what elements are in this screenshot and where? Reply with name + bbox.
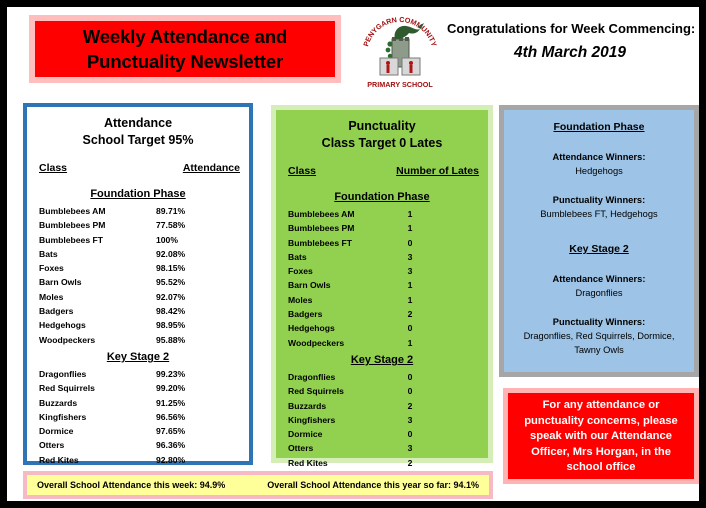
row-class-label: Moles xyxy=(288,293,398,307)
row-class-label: Hedgehogs xyxy=(288,321,398,335)
table-row: Moles92.07% xyxy=(27,290,249,304)
row-class-label: Woodpeckers xyxy=(39,333,156,347)
row-value: 98.95% xyxy=(156,318,185,332)
table-row: Bumblebees AM1 xyxy=(276,207,488,221)
table-row: Bats3 xyxy=(276,250,488,264)
table-row: Dormice97.65% xyxy=(27,424,249,438)
row-value: 2 xyxy=(398,399,422,413)
punctuality-group-ks2-title: Key Stage 2 xyxy=(276,353,488,368)
row-value: 3 xyxy=(398,264,422,278)
notice-text: For any attendance or punctuality concer… xyxy=(508,393,694,476)
row-class-label: Foxes xyxy=(39,261,156,275)
row-value: 92.07% xyxy=(156,290,185,304)
newsletter-title-box: Weekly Attendance and Punctuality Newsle… xyxy=(29,15,341,83)
row-value: 0 xyxy=(398,427,422,441)
row-class-label: Kingfishers xyxy=(288,413,398,427)
winners-ks2-punctuality-value-line1: Dragonflies, Red Squirrels, Dormice, xyxy=(512,329,686,343)
punctuality-column-headers: Class Number of Lates xyxy=(276,165,488,177)
table-row: Foxes3 xyxy=(276,264,488,278)
attendance-column-headers: Class Attendance xyxy=(27,162,249,174)
row-value: 99.20% xyxy=(156,381,185,395)
table-row: Dragonflies0 xyxy=(276,370,488,384)
table-row: Bumblebees AM89.71% xyxy=(27,204,249,218)
table-row: Bats92.08% xyxy=(27,247,249,261)
table-row: Bumblebees FT100% xyxy=(27,233,249,247)
table-row: Bumblebees PM77.58% xyxy=(27,218,249,232)
attendance-contact-notice: For any attendance or punctuality concer… xyxy=(503,388,699,484)
row-value: 0 xyxy=(398,321,422,335)
congratulations-block: Congratulations for Week Commencing: 4th… xyxy=(447,19,693,65)
row-value: 0 xyxy=(398,236,422,250)
table-row: Red Kites92.80% xyxy=(27,453,249,467)
row-class-label: Kingfishers xyxy=(39,410,156,424)
winners-ks2-punctuality-value-line2: Tawny Owls xyxy=(512,343,686,357)
row-class-label: Dragonflies xyxy=(288,370,398,384)
row-value: 96.36% xyxy=(156,438,185,452)
table-row: Red Squirrels0 xyxy=(276,384,488,398)
overall-attendance-footer: Overall School Attendance this week: 94.… xyxy=(23,471,493,499)
attendance-col-value: Attendance xyxy=(183,162,240,174)
attendance-group-ks2-title: Key Stage 2 xyxy=(27,350,249,365)
row-class-label: Hedgehogs xyxy=(39,318,156,332)
row-value: 92.08% xyxy=(156,247,185,261)
row-value: 95.88% xyxy=(156,333,185,347)
table-row: Woodpeckers1 xyxy=(276,336,488,350)
punctuality-ks2-rows: Dragonflies0Red Squirrels0Buzzards2Kingf… xyxy=(276,370,488,484)
row-class-label: Bumblebees FT xyxy=(39,233,156,247)
table-row: Buzzards2 xyxy=(276,399,488,413)
winners-panel: Foundation Phase Attendance Winners: Hed… xyxy=(499,105,699,377)
table-row: Moles1 xyxy=(276,293,488,307)
page-title-line1: Weekly Attendance and xyxy=(83,24,288,49)
row-class-label: Bumblebees FT xyxy=(288,236,398,250)
row-class-label: Buzzards xyxy=(39,396,156,410)
row-class-label: Red Kites xyxy=(288,456,398,470)
winners-ks2-punctuality-label: Punctuality Winners: xyxy=(512,315,686,329)
table-row: Badgers98.42% xyxy=(27,304,249,318)
row-class-label: Badgers xyxy=(39,304,156,318)
page-title-line2: Punctuality Newsletter xyxy=(87,49,283,74)
row-class-label: Dormice xyxy=(288,427,398,441)
row-class-label: Red Kites xyxy=(39,453,156,467)
notice-line3: speak with our Attendance xyxy=(514,429,688,445)
punctuality-foundation-rows: Bumblebees AM1Bumblebees PM1Bumblebees F… xyxy=(276,207,488,350)
overall-attendance-year: Overall School Attendance this year so f… xyxy=(267,480,479,490)
row-class-label: Barn Owls xyxy=(39,275,156,289)
punctuality-title: Punctuality xyxy=(276,118,488,135)
winners-ks2-attendance-value: Dragonflies xyxy=(512,286,686,300)
school-crest-icon: PENYGARN COMMUNITY xyxy=(359,13,441,95)
row-value: 97.65% xyxy=(156,424,185,438)
row-class-label: Barn Owls xyxy=(288,278,398,292)
table-row: Foxes98.15% xyxy=(27,261,249,275)
table-row: Badgers2 xyxy=(276,307,488,321)
table-row: Kingfishers3 xyxy=(276,413,488,427)
row-value: 0 xyxy=(398,370,422,384)
table-row: Barn Owls1 xyxy=(276,278,488,292)
row-value: 3 xyxy=(398,250,422,264)
notice-line2: punctuality concerns, please xyxy=(514,414,688,430)
row-class-label: Foxes xyxy=(288,264,398,278)
row-class-label: Red Squirrels xyxy=(288,384,398,398)
table-row: Bumblebees PM1 xyxy=(276,221,488,235)
table-row: Red Squirrels99.20% xyxy=(27,381,249,395)
attendance-title: Attendance xyxy=(27,115,249,132)
attendance-panel: Attendance School Target 95% Class Atten… xyxy=(23,103,253,465)
winners-foundation-attendance-label: Attendance Winners: xyxy=(512,150,686,164)
notice-line1: For any attendance or xyxy=(514,398,688,414)
row-class-label: Bumblebees AM xyxy=(39,204,156,218)
row-value: 2 xyxy=(398,307,422,321)
winners-foundation-stage: Foundation Phase xyxy=(512,119,686,135)
row-class-label: Dragonflies xyxy=(39,367,156,381)
congratulations-label: Congratulations for Week Commencing: xyxy=(447,19,693,39)
attendance-subtitle: School Target 95% xyxy=(27,132,249,149)
row-class-label: Buzzards xyxy=(288,399,398,413)
table-row: Otters96.36% xyxy=(27,438,249,452)
winners-foundation-punctuality-value: Bumblebees FT, Hedgehogs xyxy=(512,207,686,221)
row-value: 96.56% xyxy=(156,410,185,424)
row-value: 1 xyxy=(398,293,422,307)
row-value: 1 xyxy=(398,278,422,292)
row-value: 1 xyxy=(398,221,422,235)
row-class-label: Otters xyxy=(288,441,398,455)
row-class-label: Woodpeckers xyxy=(288,336,398,350)
table-row: Kingfishers96.56% xyxy=(27,410,249,424)
row-class-label: Otters xyxy=(39,438,156,452)
table-row: Otters3 xyxy=(276,441,488,455)
table-row: Dragonflies99.23% xyxy=(27,367,249,381)
row-value: 91.25% xyxy=(156,396,185,410)
punctuality-subtitle: Class Target 0 Lates xyxy=(276,135,488,152)
attendance-ks2-rows: Dragonflies99.23%Red Squirrels99.20%Buzz… xyxy=(27,367,249,481)
svg-text:PRIMARY SCHOOL: PRIMARY SCHOOL xyxy=(367,80,433,89)
winners-foundation-attendance-value: Hedgehogs xyxy=(512,164,686,178)
row-value: 98.15% xyxy=(156,261,185,275)
row-value: 2 xyxy=(398,456,422,470)
row-class-label: Bumblebees PM xyxy=(288,221,398,235)
table-row: Hedgehogs0 xyxy=(276,321,488,335)
row-value: 98.42% xyxy=(156,304,185,318)
row-value: 1 xyxy=(398,207,422,221)
table-row: Hedgehogs98.95% xyxy=(27,318,249,332)
row-value: 1 xyxy=(398,336,422,350)
row-value: 92.80% xyxy=(156,453,185,467)
school-logo: PENYGARN COMMUNITY xyxy=(359,13,441,95)
table-row: Barn Owls95.52% xyxy=(27,275,249,289)
row-value: 95.52% xyxy=(156,275,185,289)
row-value: 89.71% xyxy=(156,204,185,218)
punctuality-col-class: Class xyxy=(288,165,316,177)
row-class-label: Bats xyxy=(288,250,398,264)
row-class-label: Bumblebees AM xyxy=(288,207,398,221)
table-row: Buzzards91.25% xyxy=(27,396,249,410)
newsletter-page: Weekly Attendance and Punctuality Newsle… xyxy=(0,0,706,508)
row-class-label: Bumblebees PM xyxy=(39,218,156,232)
table-row: Woodpeckers95.88% xyxy=(27,333,249,347)
page-header: Weekly Attendance and Punctuality Newsle… xyxy=(7,7,699,95)
winners-foundation-punctuality-label: Punctuality Winners: xyxy=(512,193,686,207)
winners-ks2-attendance-label: Attendance Winners: xyxy=(512,272,686,286)
table-row: Bumblebees FT0 xyxy=(276,236,488,250)
row-value: 100% xyxy=(156,233,178,247)
row-class-label: Badgers xyxy=(288,307,398,321)
punctuality-group-foundation-title: Foundation Phase xyxy=(276,190,488,205)
row-value: 99.23% xyxy=(156,367,185,381)
row-class-label: Moles xyxy=(39,290,156,304)
row-class-label: Dormice xyxy=(39,424,156,438)
punctuality-col-value: Number of Lates xyxy=(396,165,479,177)
attendance-foundation-rows: Bumblebees AM89.71%Bumblebees PM77.58%Bu… xyxy=(27,204,249,347)
row-value: 3 xyxy=(398,441,422,455)
notice-line5: school office xyxy=(514,460,688,476)
attendance-col-class: Class xyxy=(39,162,67,174)
row-class-label: Bats xyxy=(39,247,156,261)
row-value: 3 xyxy=(398,413,422,427)
overall-attendance-week: Overall School Attendance this week: 94.… xyxy=(37,480,225,490)
winners-ks2-stage: Key Stage 2 xyxy=(512,241,686,257)
row-value: 0 xyxy=(398,384,422,398)
punctuality-panel: Punctuality Class Target 0 Lates Class N… xyxy=(271,105,493,463)
table-row: Red Kites2 xyxy=(276,456,488,470)
row-value: 77.58% xyxy=(156,218,185,232)
notice-line4: Officer, Mrs Horgan, in the xyxy=(514,445,688,461)
week-commencing-date: 4th March 2019 xyxy=(447,41,693,65)
table-row: Dormice0 xyxy=(276,427,488,441)
row-class-label: Red Squirrels xyxy=(39,381,156,395)
attendance-group-foundation-title: Foundation Phase xyxy=(27,187,249,202)
